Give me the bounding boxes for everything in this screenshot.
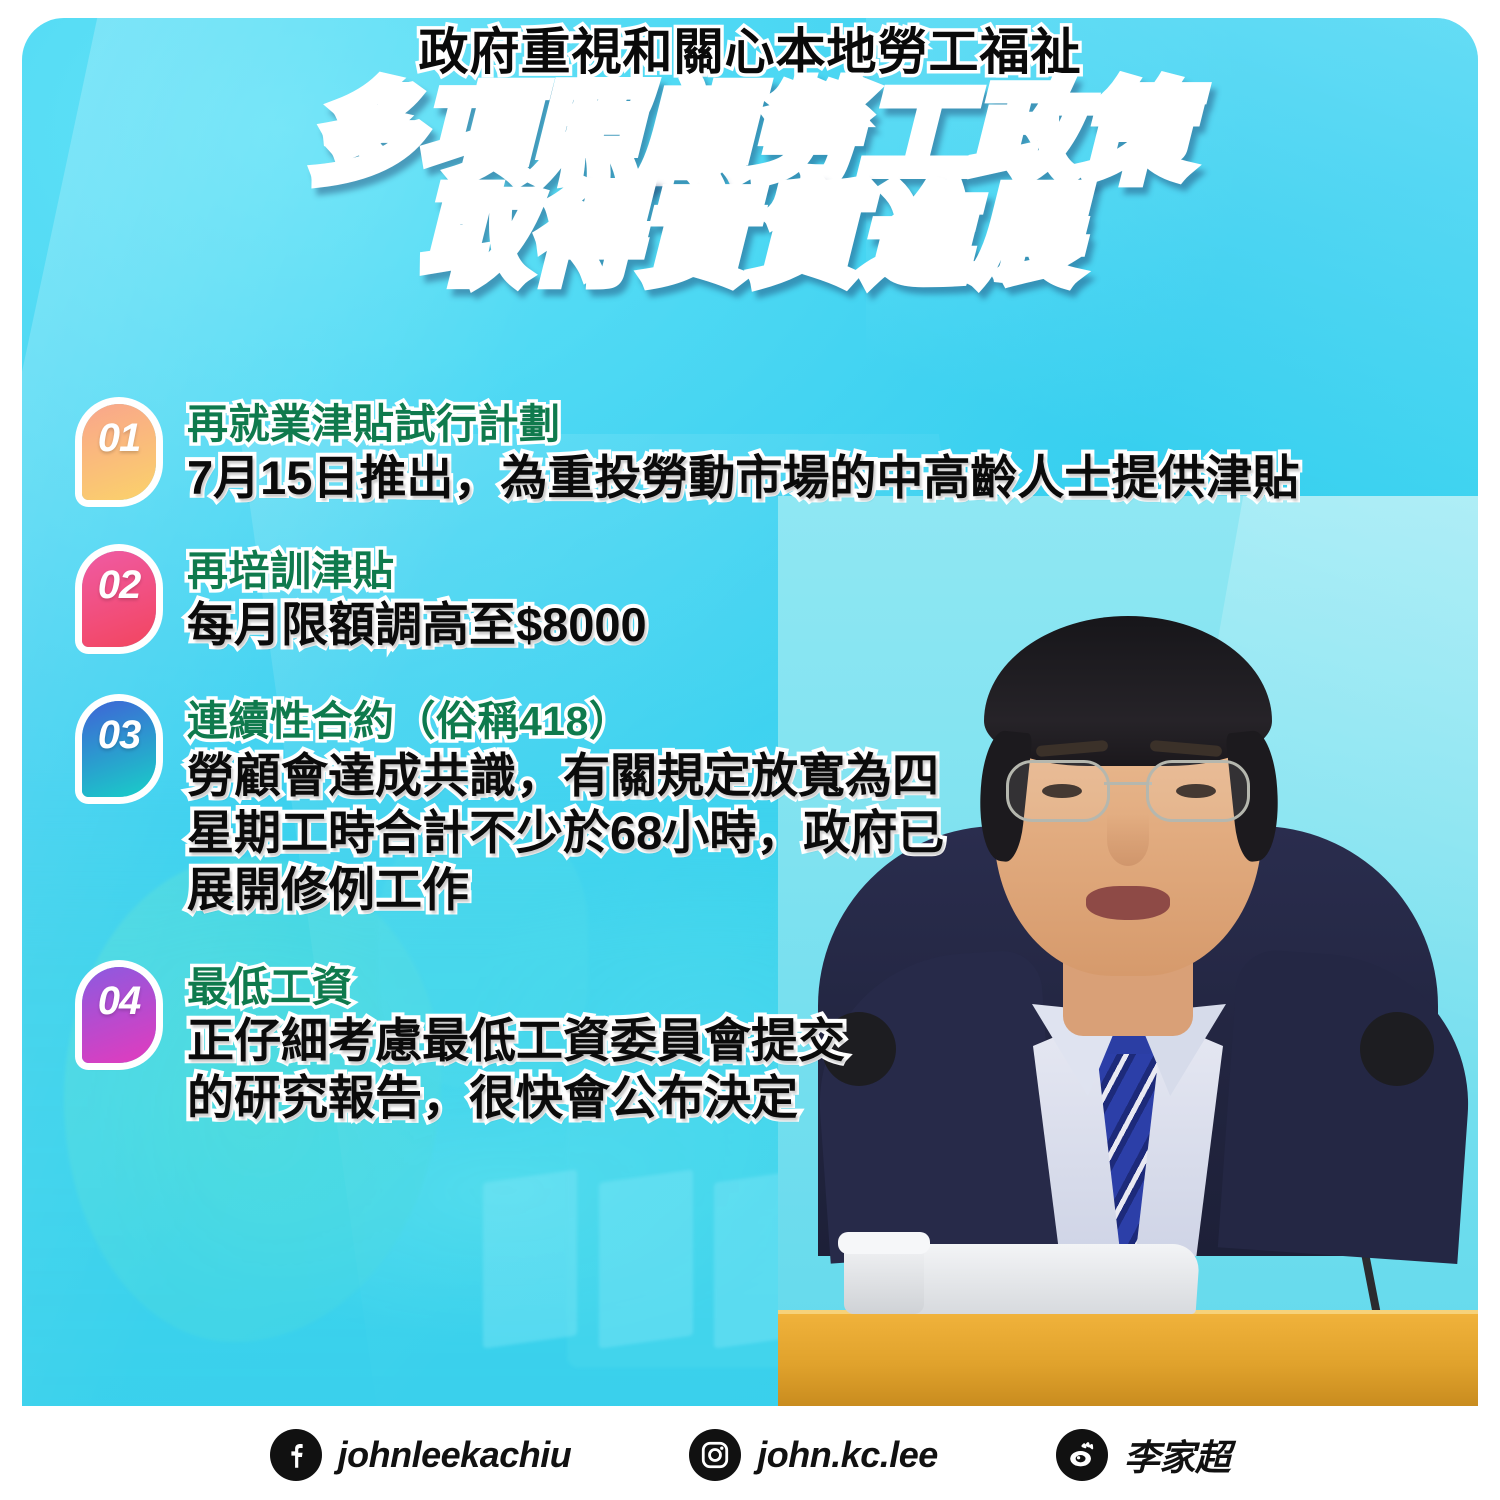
list-item: 04 最低工資 正仔細考慮最低工資委員會提交 的研究報告，很快會公布決定 <box>82 963 1478 1127</box>
weibo-icon <box>1056 1429 1108 1481</box>
social-facebook[interactable]: johnleekachiu <box>270 1429 572 1481</box>
instagram-handle: john.kc.lee <box>757 1434 938 1476</box>
item-number-03: 03 <box>98 713 141 758</box>
item-badge-03: 03 <box>82 701 156 797</box>
social-weibo[interactable]: 李家超 <box>1056 1429 1231 1481</box>
header-block: 政府重視和關心本地勞工福祉 多項照顧勞工政策 多項照顧勞工政策 取得實質進展 取… <box>22 26 1478 289</box>
item-title-02: 再培訓津貼 <box>187 547 1478 595</box>
item-title-03: 連續性合約（俗稱418） <box>187 697 1478 745</box>
weibo-handle: 李家超 <box>1124 1429 1231 1481</box>
list-item: 01 再就業津貼試行計劃 7月15日推出，為重投勞動市場的中高齡人士提供津貼 <box>82 400 1478 507</box>
facebook-handle: johnleekachiu <box>338 1434 572 1476</box>
poster-panel: 政府重視和關心本地勞工福祉 多項照顧勞工政策 多項照顧勞工政策 取得實質進展 取… <box>22 18 1478 1406</box>
item-text-03: 勞顧會達成共識，有關規定放寬為四 星期工時合計不少於68小時，政府已 展開修例工… <box>187 747 1478 919</box>
item-number-04: 04 <box>98 979 141 1024</box>
list-item: 02 再培訓津貼 每月限額調高至$8000 <box>82 547 1478 654</box>
item-badge-04: 04 <box>82 967 156 1063</box>
item-title-04: 最低工資 <box>187 963 1478 1011</box>
social-instagram[interactable]: john.kc.lee <box>689 1429 938 1481</box>
instagram-icon <box>689 1429 741 1481</box>
headline-line-1: 多項照顧勞工政策 多項照顧勞工政策 <box>22 81 1478 187</box>
kicker-text: 政府重視和關心本地勞工福祉 <box>22 26 1478 79</box>
item-title-01: 再就業津貼試行計劃 <box>187 400 1478 448</box>
item-badge-01: 01 <box>82 404 156 500</box>
item-badge-02: 02 <box>82 551 156 647</box>
facebook-icon <box>270 1429 322 1481</box>
headline-line-2: 取得實質進展 取得實質進展 <box>22 183 1478 289</box>
policy-list: 01 再就業津貼試行計劃 7月15日推出，為重投勞動市場的中高齡人士提供津貼 0… <box>82 400 1478 1145</box>
item-text-02: 每月限額調高至$8000 <box>187 596 1478 653</box>
item-text-01: 7月15日推出，為重投勞動市場的中高齡人士提供津貼 <box>187 449 1478 506</box>
social-footer: johnleekachiu john.kc.lee 李家超 <box>0 1410 1500 1500</box>
item-number-01: 01 <box>98 416 141 461</box>
headline-line-2-fill: 取得實質進展 <box>420 175 1080 296</box>
item-text-04: 正仔細考慮最低工資委員會提交 的研究報告，很快會公布決定 <box>187 1012 1478 1127</box>
item-number-02: 02 <box>98 563 141 608</box>
list-item: 03 連續性合約（俗稱418） 勞顧會達成共識，有關規定放寬為四 星期工時合計不… <box>82 697 1478 918</box>
